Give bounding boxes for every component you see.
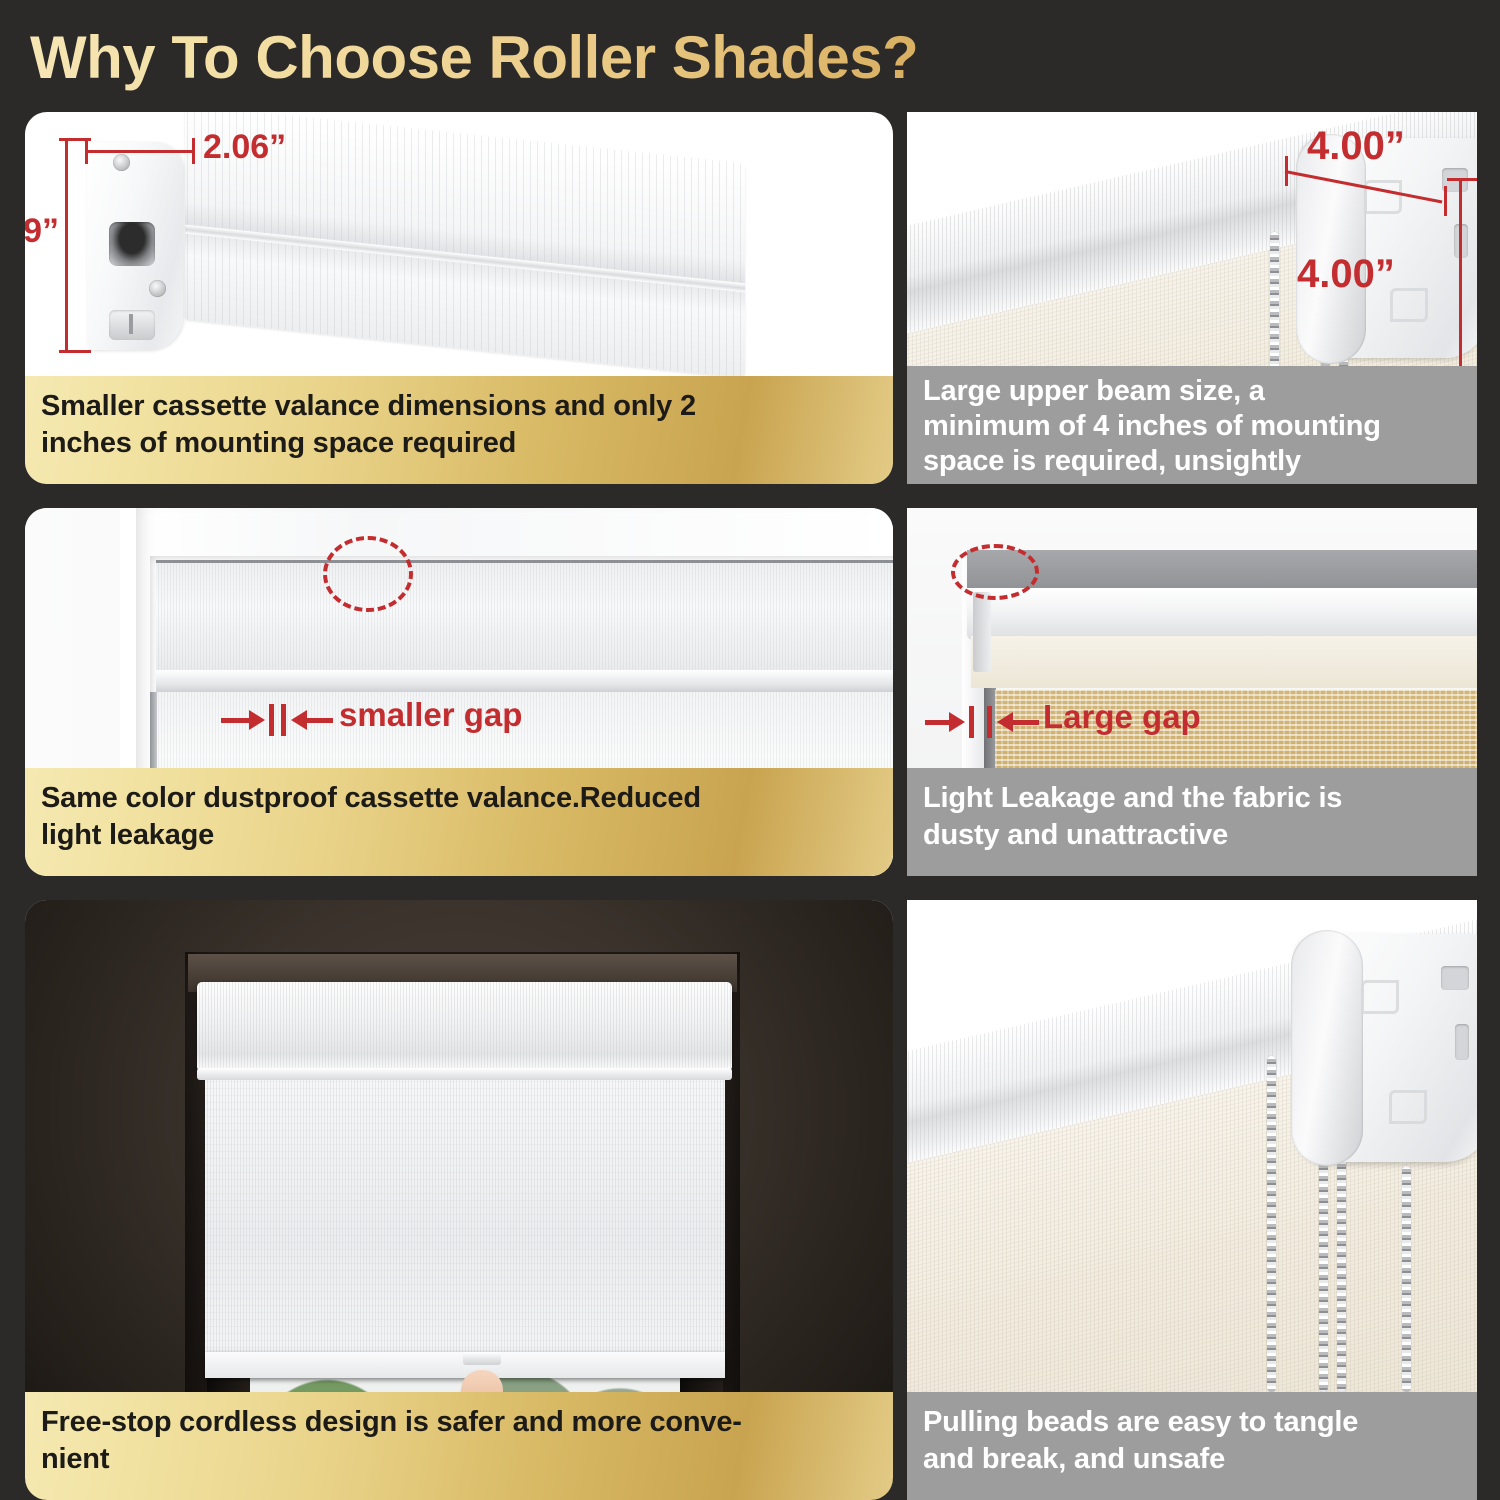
height-dimension-line [1459,178,1462,394]
infographic-root: Why To Choose Roller Shades? 2.06” [0,0,1500,1500]
valance-rail [156,670,893,692]
highlight-circle-icon [951,544,1039,600]
mounting-bracket [1302,138,1477,358]
page-title: Why To Choose Roller Shades? [30,22,1230,94]
valance-lip [197,1068,732,1080]
gap-arrow-left-shaft [925,720,951,725]
caption-line: Free-stop cordless design is safer and m… [41,1404,877,1441]
caption-line: space is required, unsightly [923,444,1461,479]
width-dimension-tick-left [85,138,88,164]
upper-beam [967,550,1477,592]
caption-smaller-cassette-valance: Smaller cassette valance dimensions and … [25,376,893,484]
gap-arrow-left-shaft [221,718,251,723]
caption-pulling-beads-tangle: Pulling beads are easy to tangle and bre… [907,1392,1477,1500]
comparison-grid: 2.06” 5.49” Smaller cassette valance dim… [0,112,1500,1500]
caption-line: Same color dustproof cassette valance.Re… [41,780,877,817]
height-dimension-label: 5.49” [25,212,59,251]
caption-line: Light Leakage and the fabric is [923,780,1461,817]
gap-edge-marker [281,704,286,736]
gap-arrow-right-shaft [307,718,333,723]
bead-chain [1267,1056,1276,1392]
bracket-emblem-icon [1361,980,1399,1014]
height-dimension-tick-top [59,138,91,141]
bracket-notch [1441,966,1469,990]
width-dimension-line [85,150,195,153]
panel-pulling-beads-tangle: Pulling beads are easy to tangle and bre… [907,900,1477,1500]
gap-callout-label: Large gap [1043,698,1201,736]
highlight-circle-icon [323,536,413,612]
caption-line: nient [41,1441,877,1478]
caption-light-leakage-dusty-fabric: Light Leakage and the fabric is dusty an… [907,768,1477,876]
panel-smaller-cassette-valance: 2.06” 5.49” Smaller cassette valance dim… [25,112,893,484]
width-dimension-tick-right [192,138,195,164]
bracket-emblem-icon [1364,180,1402,214]
valance-band [971,636,1477,688]
cassette-end-cap [87,142,183,350]
caption-free-stop-cordless-design: Free-stop cordless design is safer and m… [25,1392,893,1500]
gap-edge-marker [269,704,274,736]
shade-pull-tab [463,1352,501,1365]
caption-line: dusty and unattractive [923,817,1461,854]
caption-line: Large upper beam size, a [923,374,1461,409]
caption-large-upper-beam: Large upper beam size, a minimum of 4 in… [907,366,1477,484]
bracket-knob [109,310,155,340]
gap-arrow-right-head-icon [291,710,307,730]
caption-line: minimum of 4 inches of mounting [923,409,1461,444]
gap-arrow-left-head-icon [949,712,965,732]
panel-free-stop-cordless-design: Free-stop cordless design is safer and m… [25,900,893,1500]
height-dimension-tick-top [1447,178,1477,181]
gap-arrow-right-head-icon [997,712,1013,732]
caption-line: and break, and unsafe [923,1441,1461,1478]
panel-dustproof-cassette-valance: smaller gap Same color dustproof cassett… [25,508,893,876]
width-dimension-tick-right [1444,186,1447,216]
end-clip [973,592,991,672]
roller-shade-fabric [205,1080,725,1368]
width-dimension-label: 4.00” [1307,124,1405,169]
width-dimension-tick-left [1285,156,1288,186]
screw-icon [149,280,166,297]
caption-line: light leakage [41,817,877,854]
cassette-valance [156,560,893,672]
caption-dustproof-cassette-valance: Same color dustproof cassette valance.Re… [25,768,893,876]
gap-callout-label: smaller gap [339,696,522,734]
caption-line: Pulling beads are easy to tangle [923,1404,1461,1441]
height-dimension-tick-bottom [59,350,91,353]
roller-slot [109,222,155,266]
gap-arrow-left-head-icon [249,710,265,730]
gap-edge-marker [969,706,974,738]
cassette-valance [197,982,732,1070]
bracket-emblem-icon [1390,288,1428,322]
bracket-emblem-icon [1389,1090,1427,1124]
valance-front [967,588,1477,640]
mounting-bracket [1299,934,1477,1162]
screw-icon [113,154,130,171]
width-dimension-label: 2.06” [203,128,286,167]
height-dimension-line [65,138,68,353]
height-dimension-label: 4.00” [1297,252,1395,297]
caption-line: Smaller cassette valance dimensions and … [41,388,877,425]
panel-large-upper-beam: 4.00” 4.00” Large upper beam size, a min… [907,112,1477,484]
gap-arrow-right-shaft [1013,720,1039,725]
gap-edge-marker [987,706,992,738]
panel-light-leakage-dusty-fabric: Large gap Light Leakage and the fabric i… [907,508,1477,876]
bead-chain [1402,1166,1411,1392]
caption-line: inches of mounting space required [41,425,877,462]
bracket-notch [1455,1024,1469,1060]
